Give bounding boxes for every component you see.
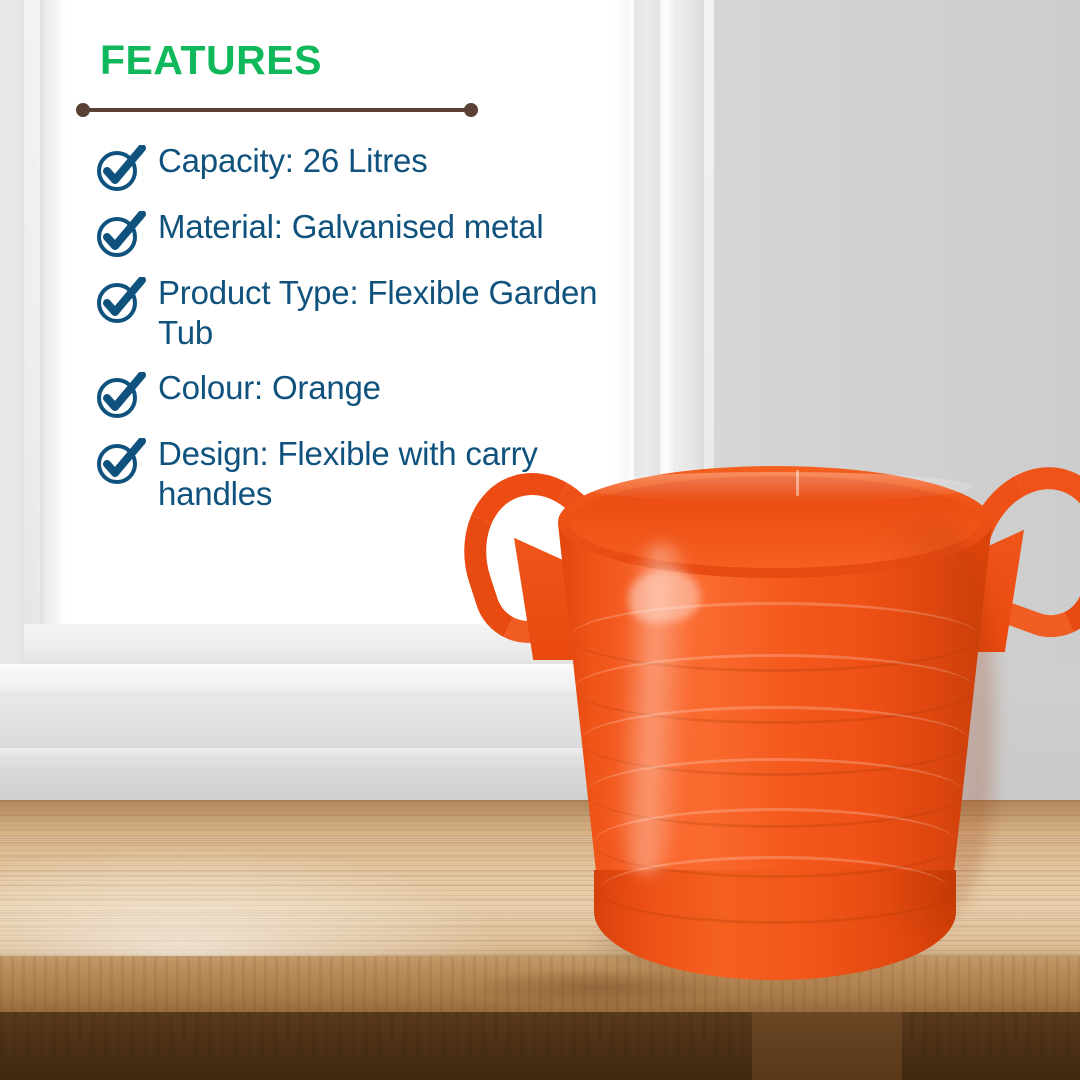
window-jamb-left-highlight [58, 0, 66, 660]
window-jamb-left [40, 0, 60, 700]
feature-list-item: Capacity: 26 Litres [66, 141, 634, 193]
tub-rim-highlight [580, 472, 972, 502]
feature-list-item-label: Design: Flexible with carry handles [158, 434, 610, 515]
feature-list-item-label: Product Type: Flexible Garden Tub [158, 273, 610, 354]
check-circle-icon [94, 372, 146, 420]
feature-list-item: Colour: Orange [66, 368, 634, 420]
divider-line [82, 108, 472, 112]
features-card: FEATURES Capacity: 26 Litres [66, 0, 634, 528]
table-underside-panel [752, 1012, 902, 1080]
feature-list-item-label: Material: Galvanised metal [158, 207, 543, 247]
features-heading: FEATURES [100, 40, 634, 81]
table-underside [0, 1012, 1080, 1080]
features-list: Capacity: 26 Litres Material: Galvanised… [66, 141, 634, 514]
check-circle-icon [94, 211, 146, 259]
check-circle-icon [94, 145, 146, 193]
heading-divider [76, 103, 476, 117]
feature-list-item: Material: Galvanised metal [66, 207, 634, 259]
tub-right-shading [872, 522, 994, 922]
feature-list-item: Product Type: Flexible Garden Tub [66, 273, 634, 354]
check-circle-icon [94, 277, 146, 325]
product-feature-image: FEATURES Capacity: 26 Litres [0, 0, 1080, 1080]
check-circle-icon [94, 438, 146, 486]
tub-rim-seam-mark [796, 470, 799, 496]
feature-list-item-label: Capacity: 26 Litres [158, 141, 428, 181]
feature-list-item: Design: Flexible with carry handles [66, 434, 634, 515]
feature-list-item-label: Colour: Orange [158, 368, 381, 408]
divider-dot-right-icon [464, 103, 478, 117]
orange-flexible-garden-tub [452, 452, 1080, 972]
